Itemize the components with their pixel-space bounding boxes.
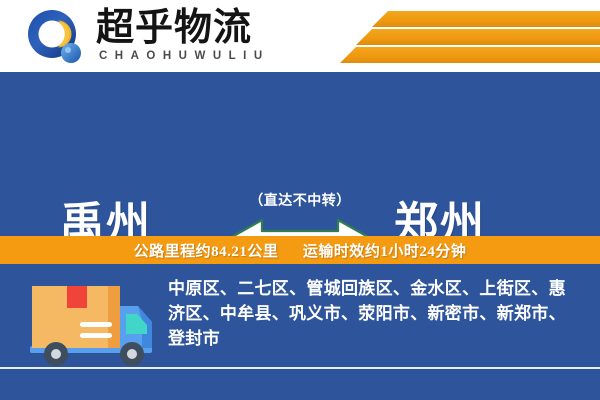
brand-name-en: CHAOHUWULIU: [99, 50, 270, 62]
direct-shipping-note: （直达不中转）: [0, 190, 600, 210]
route-info-text: 公路里程约84.21公里 运输时效约1小时24分钟: [134, 240, 467, 261]
brand-name-cn: 超乎物流: [96, 7, 252, 49]
banner-header: 超乎物流 CHAOHUWULIU: [0, 0, 600, 72]
coverage-section: 中原区、二七区、管城回族区、金水区、上街区、惠济区、中牟县、巩义市、荥阳市、新密…: [0, 264, 600, 400]
logistics-route-banner: 超乎物流 CHAOHUWULIU 禹州 （直达不中转）: [0, 0, 600, 400]
distance-text: 公路里程约84.21公里: [134, 244, 279, 260]
route-info-bar: 公路里程约84.21公里 运输时效约1小时24分钟: [0, 236, 600, 264]
route-section: 禹州 （直达不中转） 【往返运输】 郑州: [0, 72, 600, 236]
bottom-divider: [0, 367, 600, 369]
three-diagonal-stripes-icon: [310, 0, 600, 72]
delivery-truck-icon: [22, 276, 158, 372]
duration-text: 运输时效约1小时24分钟: [303, 244, 467, 260]
coverage-districts-text: 中原区、二七区、管城回族区、金水区、上街区、惠济区、中牟县、巩义市、荥阳市、新密…: [168, 276, 582, 351]
circular-q-logo-icon: [26, 8, 84, 66]
